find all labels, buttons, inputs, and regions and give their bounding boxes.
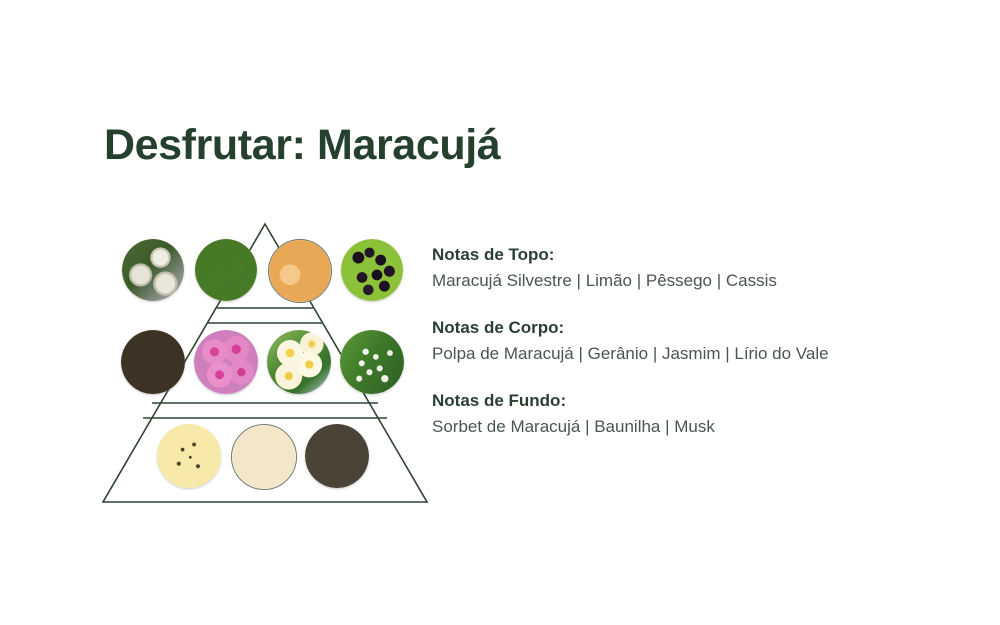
passionfruit-sorbet-image: [157, 424, 221, 488]
geranium-image: [194, 330, 258, 394]
ingredient-circle-musk: [305, 424, 369, 488]
vanilla-image: [232, 425, 296, 489]
notes-panel: Notas de Topo: Maracujá Silvestre | Limã…: [432, 244, 972, 440]
note-group-top: Notas de Topo: Maracujá Silvestre | Limã…: [432, 244, 972, 294]
wild-passionfruit-image: [122, 239, 184, 301]
ingredient-circle-polpa-de-maracuja: [121, 330, 185, 394]
ingredient-circle-sorbet-de-maracuja: [157, 424, 221, 488]
ingredient-circle-maracuja-silvestre: [122, 239, 184, 301]
note-heading-top: Notas de Topo:: [432, 244, 972, 267]
lime-image: [195, 239, 257, 301]
peach-image: [269, 240, 331, 302]
ingredient-circle-baunilha: [231, 424, 297, 490]
ingredient-circle-cassis: [341, 239, 403, 301]
fragrance-pyramid-infographic: Desfrutar: Maracujá: [0, 0, 1000, 625]
fragrance-pyramid-graphic: [95, 215, 435, 515]
note-heading-base: Notas de Fundo:: [432, 390, 972, 413]
ingredient-circle-lirio-do-vale: [340, 330, 404, 394]
note-group-heart: Notas de Corpo: Polpa de Maracujá | Gerâ…: [432, 317, 972, 367]
note-values-heart: Polpa de Maracujá | Gerânio | Jasmim | L…: [432, 340, 972, 367]
note-values-top: Maracujá Silvestre | Limão | Pêssego | C…: [432, 267, 972, 294]
note-heading-heart: Notas de Corpo:: [432, 317, 972, 340]
note-group-base: Notas de Fundo: Sorbet de Maracujá | Bau…: [432, 390, 972, 440]
ingredient-circle-limao: [195, 239, 257, 301]
passionfruit-pulp-image: [121, 330, 185, 394]
note-values-base: Sorbet de Maracujá | Baunilha | Musk: [432, 413, 972, 440]
jasmine-image: [267, 330, 331, 394]
ingredient-circle-pessego: [268, 239, 332, 303]
lily-of-the-valley-image: [340, 330, 404, 394]
musk-image: [305, 424, 369, 488]
blackcurrant-image: [341, 239, 403, 301]
ingredient-circle-jasmim: [267, 330, 331, 394]
page-title: Desfrutar: Maracujá: [104, 122, 500, 169]
ingredient-circle-geranio: [194, 330, 258, 394]
